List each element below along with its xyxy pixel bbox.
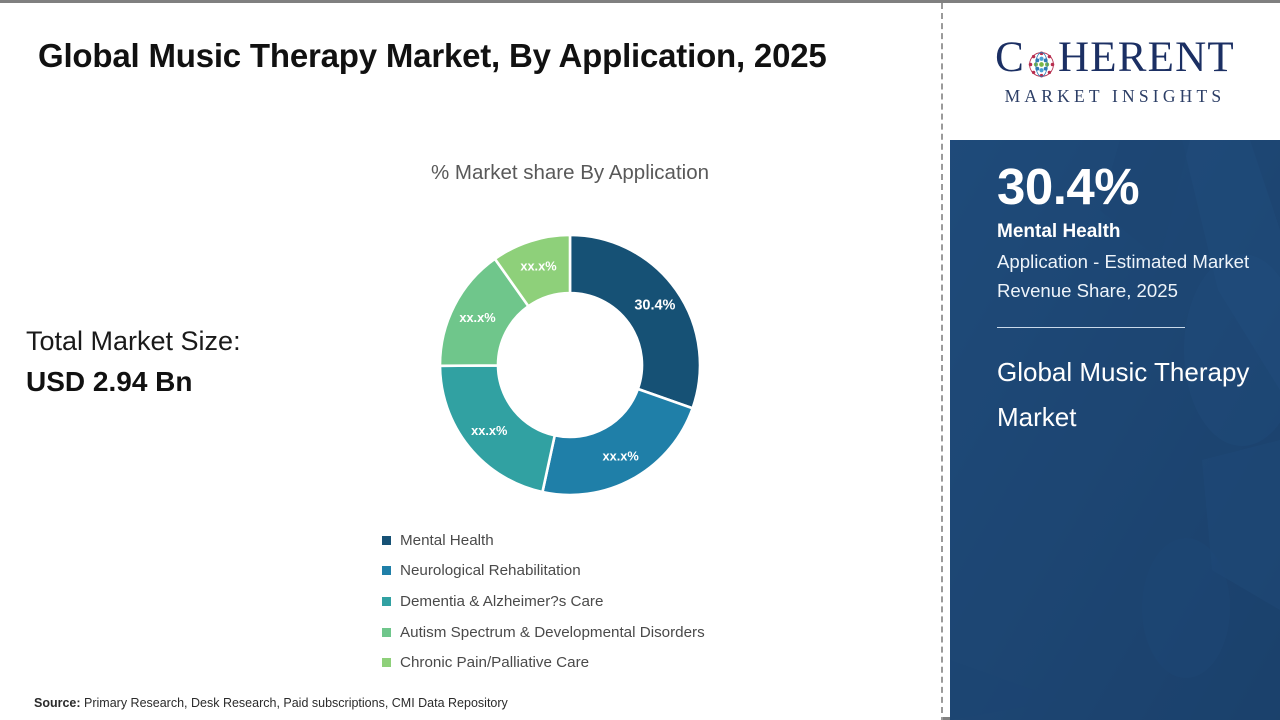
total-market-size-block: Total Market Size: USD 2.94 Bn bbox=[26, 325, 356, 401]
donut-chart: 30.4%xx.x%xx.x%xx.x%xx.x% bbox=[430, 225, 710, 505]
chart-subtitle: % Market share By Application bbox=[360, 161, 780, 185]
legend-label: Dementia & Alzheimer?s Care bbox=[400, 593, 603, 610]
infographic-canvas: Global Music Therapy Market, By Applicat… bbox=[0, 0, 1280, 720]
globe-dot-sphere-icon bbox=[1026, 45, 1057, 76]
legend-item[interactable]: Chronic Pain/Palliative Care bbox=[382, 647, 782, 678]
panel-content: 30.4% Mental Health Application - Estima… bbox=[997, 140, 1259, 440]
logo-tagline: MARKET INSIGHTS bbox=[1005, 86, 1226, 107]
legend-label: Chronic Pain/Palliative Care bbox=[400, 654, 589, 671]
legend-item[interactable]: Neurological Rehabilitation bbox=[382, 556, 782, 587]
donut-svg: 30.4%xx.x%xx.x%xx.x%xx.x% bbox=[430, 225, 710, 505]
left-content-pane: Global Music Therapy Market, By Applicat… bbox=[0, 3, 942, 720]
donut-slice-label: xx.x% bbox=[603, 448, 640, 463]
legend-label: Autism Spectrum & Developmental Disorder… bbox=[400, 624, 705, 641]
stat-description: Application - Estimated Market Revenue S… bbox=[997, 247, 1259, 306]
page-title: Global Music Therapy Market, By Applicat… bbox=[38, 31, 878, 81]
legend-swatch-icon bbox=[382, 658, 391, 667]
donut-slice[interactable] bbox=[570, 235, 700, 408]
legend-label: Neurological Rehabilitation bbox=[400, 562, 581, 579]
legend-item[interactable]: Dementia & Alzheimer?s Care bbox=[382, 586, 782, 617]
stat-name: Mental Health bbox=[997, 220, 1259, 245]
source-value: Primary Research, Desk Research, Paid su… bbox=[81, 696, 508, 710]
vertical-dashed-divider bbox=[941, 3, 943, 720]
donut-slice-group bbox=[440, 235, 700, 495]
logo-wordmark: C bbox=[995, 36, 1235, 79]
donut-slice-label: 30.4% bbox=[634, 297, 675, 313]
legend-swatch-icon bbox=[382, 566, 391, 575]
donut-slice-label: xx.x% bbox=[459, 310, 496, 325]
market-size-label: Total Market Size: bbox=[26, 325, 356, 359]
coherent-market-insights-logo: C bbox=[967, 36, 1263, 107]
logo-letters-herent: HERENT bbox=[1058, 36, 1235, 79]
stat-value: 30.4% bbox=[997, 159, 1259, 214]
market-size-value: USD 2.94 Bn bbox=[26, 363, 356, 401]
legend-swatch-icon bbox=[382, 628, 391, 637]
brand-logo-box: C bbox=[950, 6, 1280, 137]
panel-divider-rule bbox=[997, 327, 1185, 328]
legend-swatch-icon bbox=[382, 597, 391, 606]
logo-letter-c: C bbox=[995, 36, 1025, 79]
source-line: Source: Primary Research, Desk Research,… bbox=[34, 696, 508, 710]
legend-item[interactable]: Mental Health bbox=[382, 525, 782, 556]
donut-chart-area: % Market share By Application 30.4%xx.x%… bbox=[360, 153, 780, 673]
donut-slice[interactable] bbox=[542, 389, 692, 495]
donut-slice-label: xx.x% bbox=[471, 423, 508, 438]
legend-item[interactable]: Autism Spectrum & Developmental Disorder… bbox=[382, 617, 782, 648]
highlight-panel: 30.4% Mental Health Application - Estima… bbox=[950, 140, 1280, 720]
source-label: Source: bbox=[34, 696, 81, 710]
panel-market-name: Global Music Therapy Market bbox=[997, 350, 1259, 440]
chart-legend: Mental HealthNeurological Rehabilitation… bbox=[382, 525, 782, 678]
legend-swatch-icon bbox=[382, 536, 391, 545]
legend-label: Mental Health bbox=[400, 532, 494, 549]
donut-slice-label: xx.x% bbox=[520, 258, 557, 273]
